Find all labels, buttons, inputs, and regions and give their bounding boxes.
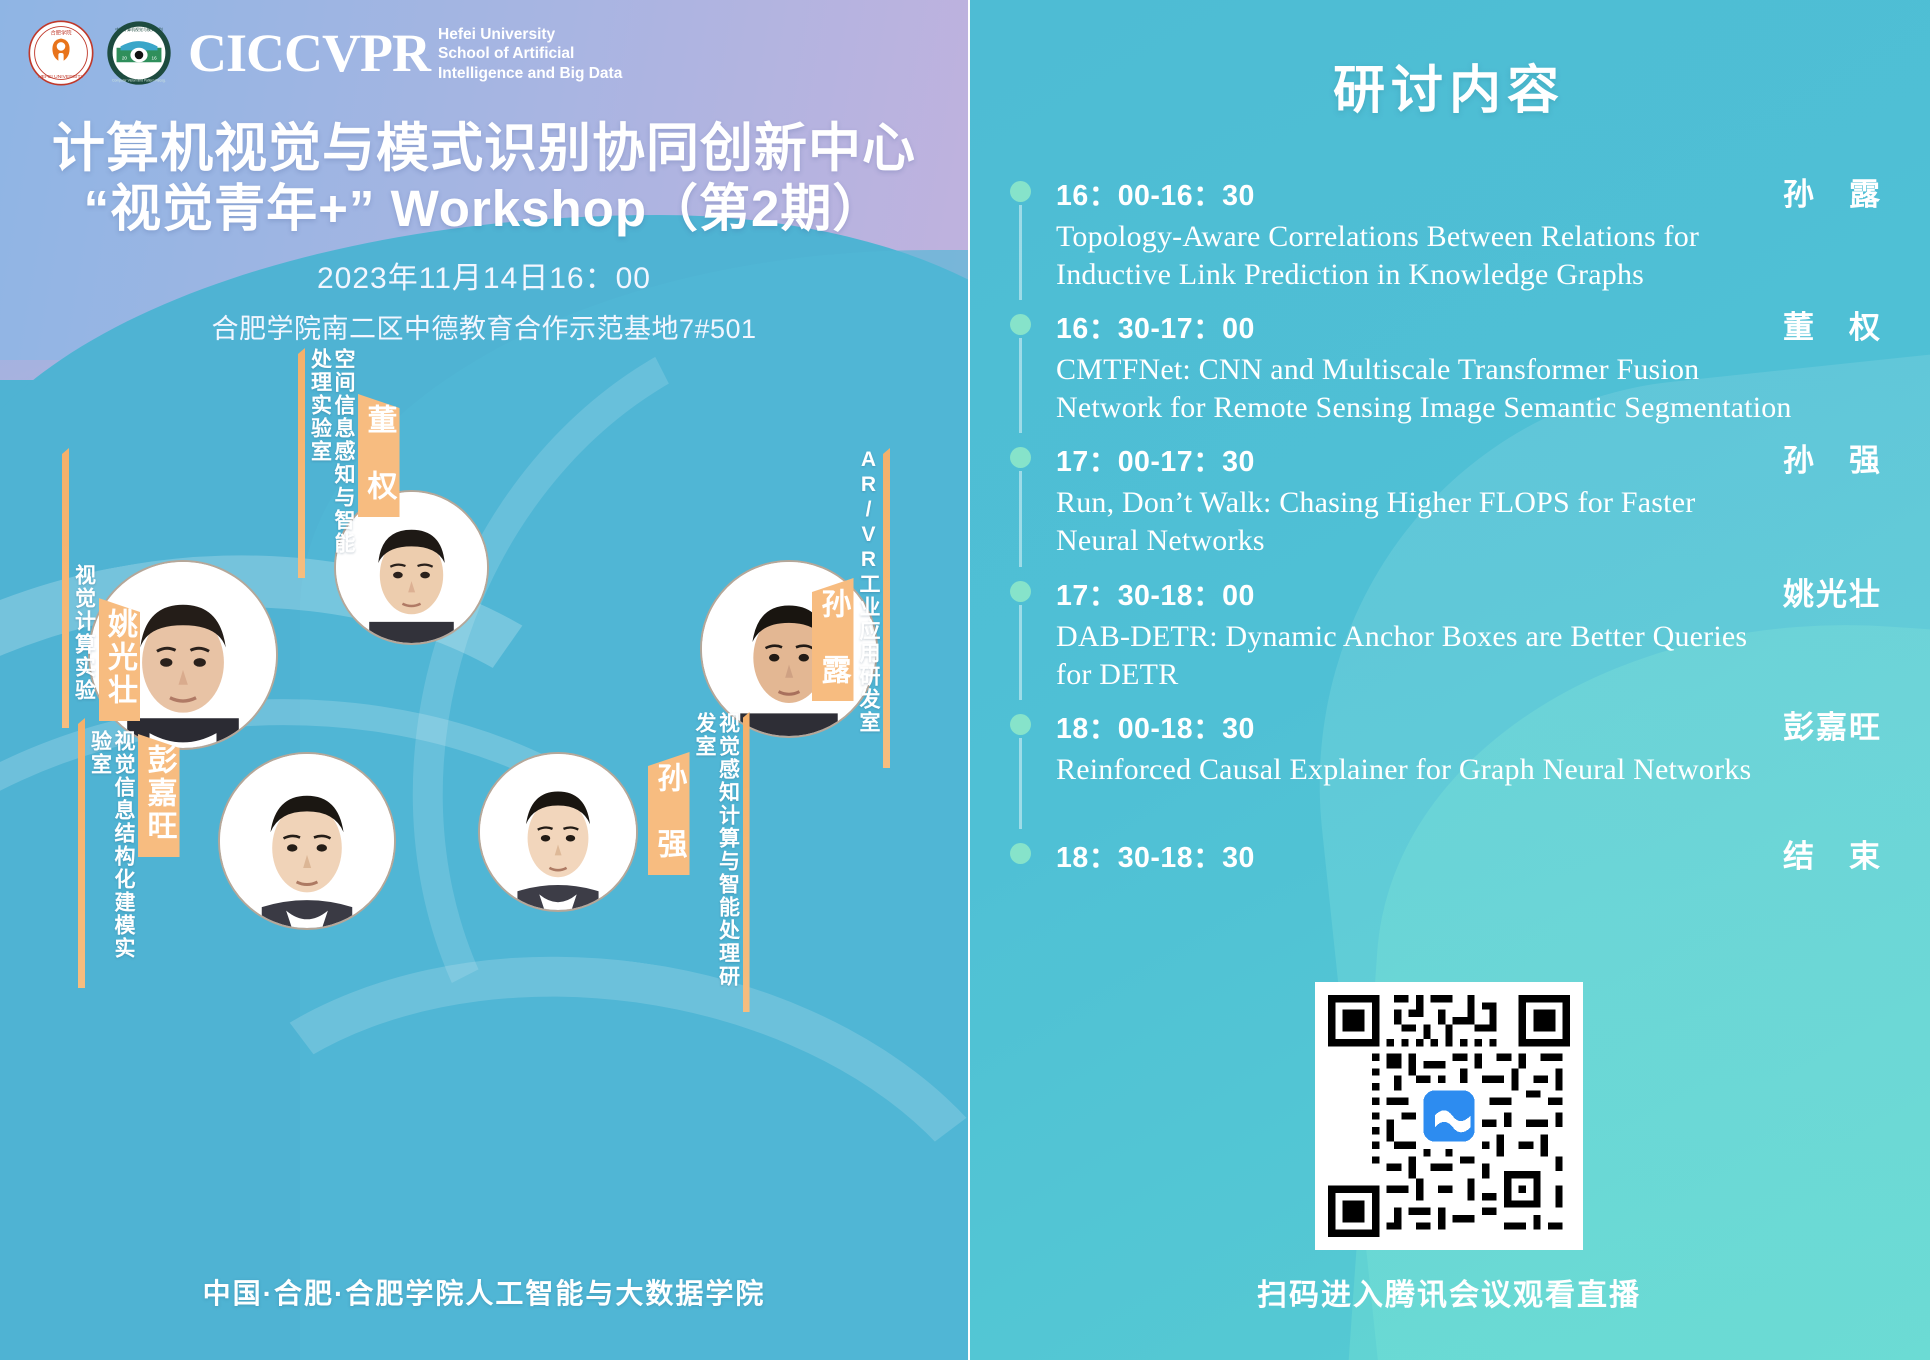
wordmark-text: CICCVPR	[188, 26, 430, 80]
agenda-speaker: 孙 露	[1761, 169, 1882, 214]
agenda-speaker: 孙 强	[1761, 435, 1882, 480]
agenda-item: 17：30-18：00 姚光壮 DAB-DETR: Dynamic Anchor…	[1010, 569, 1882, 702]
agenda-speaker: 结 束	[1761, 831, 1882, 876]
agenda-time: 16：30-17：00	[1056, 306, 1255, 347]
organization-lines: Hefei University School of Artificial In…	[438, 23, 622, 83]
poster-root: 合肥学院 HEFEI UNIVERSITY 20 16 中国计算机视觉与模式识别…	[0, 0, 1930, 1360]
agenda-paper-title: Reinforced Causal Explainer for Graph Ne…	[1056, 751, 1816, 789]
org-line-1: Hefei University	[438, 25, 622, 44]
svg-text:Computer Vision and Pattern Re: Computer Vision and Pattern Recog.	[112, 78, 166, 82]
agenda-row-header: 18：00-18：30 彭嘉旺	[1056, 702, 1882, 747]
title-line-1: 计算机视觉与模式识别协同创新中心	[0, 118, 968, 179]
agenda-time: 18：30-18：30	[1056, 835, 1255, 876]
agenda-row-header: 17：30-18：00 姚光壮	[1056, 569, 1882, 614]
timeline-stem	[1019, 605, 1022, 700]
lab-name: 空间信息感知与智能处理实验室	[308, 348, 355, 568]
qr-code[interactable]	[1315, 982, 1583, 1250]
accent-rule	[298, 348, 305, 578]
qr-code-image[interactable]	[1328, 995, 1570, 1237]
timeline-stem	[1019, 338, 1022, 433]
agenda-paper-title: Run, Don’t Walk: Chasing Higher FLOPS fo…	[1056, 484, 1756, 560]
speaker-name-tag: 董 权	[358, 394, 400, 517]
agenda-paper-title: CMTFNet: CNN and Multiscale Transformer …	[1056, 351, 1796, 427]
panel-divider	[968, 0, 970, 1360]
timeline-stem	[1019, 738, 1022, 829]
ciccvpr-wordmark: CICCVPR Hefei University School of Artif…	[188, 23, 622, 83]
left-panel: 合肥学院 HEFEI UNIVERSITY 20 16 中国计算机视觉与模式识别…	[0, 0, 968, 1360]
speaker-name-tag: 孙 强	[648, 752, 690, 875]
speaker-name-tag: 彭嘉旺	[138, 734, 180, 857]
bullet-dot-icon	[1010, 714, 1031, 735]
bullet-dot-icon	[1010, 314, 1031, 335]
bullet-dot-icon	[1010, 581, 1031, 602]
agenda-item: 17：00-17：30 孙 强 Run, Don’t Walk: Chasing…	[1010, 435, 1882, 568]
person-label-yaoguangzhuang: 视觉计算实验 姚光壮	[62, 448, 140, 728]
person-label-sunqiang: 孙 强 视觉感知计算与智能处理研发室	[648, 712, 750, 1012]
person-label-pengjiawang: 视觉信息结构化建模实验室 彭嘉旺	[78, 718, 180, 988]
svg-text:中国计算机视觉与模式识别: 中国计算机视觉与模式识别	[115, 27, 162, 32]
svg-text:16: 16	[152, 56, 158, 61]
agenda-time: 17：30-18：00	[1056, 573, 1255, 614]
agenda-item: 18：30-18：30 结 束	[1010, 831, 1882, 884]
lab-name: 视觉感知计算与智能处理研发室	[693, 712, 740, 1002]
portrait-pengjiawang	[220, 754, 394, 928]
avatar	[218, 752, 396, 930]
agenda-row-header: 16：30-17：00 董 权	[1056, 302, 1882, 347]
agenda-speaker: 姚光壮	[1761, 569, 1882, 614]
agenda-item: 16：00-16：30 孙 露 Topology-Aware Correlati…	[1010, 169, 1882, 302]
speaker-name-tag: 孙 露	[812, 578, 854, 701]
bullet-dot-icon	[1010, 181, 1031, 202]
right-panel: 研讨内容 16：00-16：30 孙 露 Topology-Aware Corr…	[968, 0, 1930, 1360]
accent-rule	[78, 718, 85, 988]
lab-name: AR/VR工业应用研发室	[857, 448, 881, 748]
lab-name: 视觉信息结构化建模实验室	[88, 730, 135, 980]
qr-section: 扫码进入腾讯会议观看直播	[968, 982, 1930, 1314]
agenda-list: 16：00-16：30 孙 露 Topology-Aware Correlati…	[1010, 169, 1882, 884]
agenda-speaker: 董 权	[1761, 302, 1882, 347]
agenda-paper-title: Topology-Aware Correlations Between Rela…	[1056, 218, 1756, 294]
bullet-dot-icon	[1010, 447, 1031, 468]
agenda-time: 18：00-18：30	[1056, 706, 1255, 747]
org-line-2: School of Artificial	[438, 44, 622, 63]
bullet-dot-icon	[1010, 843, 1031, 864]
event-datetime: 2023年11月14日16：00	[0, 253, 968, 297]
poster-header: 合肥学院 HEFEI UNIVERSITY 20 16 中国计算机视觉与模式识别…	[28, 20, 622, 86]
person-photo-pengjiawang	[218, 752, 396, 930]
svg-text:HEFEI UNIVERSITY: HEFEI UNIVERSITY	[38, 74, 84, 80]
agenda-time: 17：00-17：30	[1056, 439, 1255, 480]
event-venue: 合肥学院南二区中德教育合作示范基地7#501	[0, 307, 968, 346]
agenda-row-header: 18：30-18：30 结 束	[1056, 831, 1882, 876]
title-line-2: “视觉青年+” Workshop（第2期）	[0, 179, 968, 238]
portrait-sunqiang	[480, 754, 636, 910]
agenda-time: 16：00-16：30	[1056, 173, 1255, 214]
accent-rule	[743, 712, 750, 1012]
person-label-dongquan: 空间信息感知与智能处理实验室 董 权	[298, 348, 400, 578]
person-photo-sunqiang	[478, 752, 638, 912]
agenda-row-header: 17：00-17：30 孙 强	[1056, 435, 1882, 480]
poster-title-block: 计算机视觉与模式识别协同创新中心 “视觉青年+” Workshop（第2期） 2…	[0, 118, 968, 346]
speaker-name-tag: 姚光壮	[99, 598, 141, 721]
ciccvpr-logo: 20 16 中国计算机视觉与模式识别 Computer Vision and P…	[106, 20, 172, 86]
svg-text:20: 20	[122, 56, 128, 61]
accent-rule	[62, 448, 69, 728]
poster-footer: 中国·合肥·合肥学院人工智能与大数据学院	[0, 1272, 968, 1312]
agenda-title: 研讨内容	[968, 0, 1930, 123]
agenda-item: 16：30-17：00 董 权 CMTFNet: CNN and Multisc…	[1010, 302, 1882, 435]
agenda-item: 18：00-18：30 彭嘉旺 Reinforced Causal Explai…	[1010, 702, 1882, 831]
qr-caption: 扫码进入腾讯会议观看直播	[968, 1270, 1930, 1314]
hefei-university-logo: 合肥学院 HEFEI UNIVERSITY	[28, 20, 94, 86]
accent-rule	[883, 448, 890, 768]
org-line-3: Intelligence and Big Data	[438, 64, 622, 83]
timeline-stem	[1019, 471, 1022, 566]
agenda-speaker: 彭嘉旺	[1761, 702, 1882, 747]
agenda-row-header: 16：00-16：30 孙 露	[1056, 169, 1882, 214]
person-label-sunlu: 孙 露 AR/VR工业应用研发室	[812, 448, 890, 768]
agenda-paper-title: DAB-DETR: Dynamic Anchor Boxes are Bette…	[1056, 618, 1756, 694]
avatar	[478, 752, 638, 912]
timeline-stem	[1019, 205, 1022, 300]
